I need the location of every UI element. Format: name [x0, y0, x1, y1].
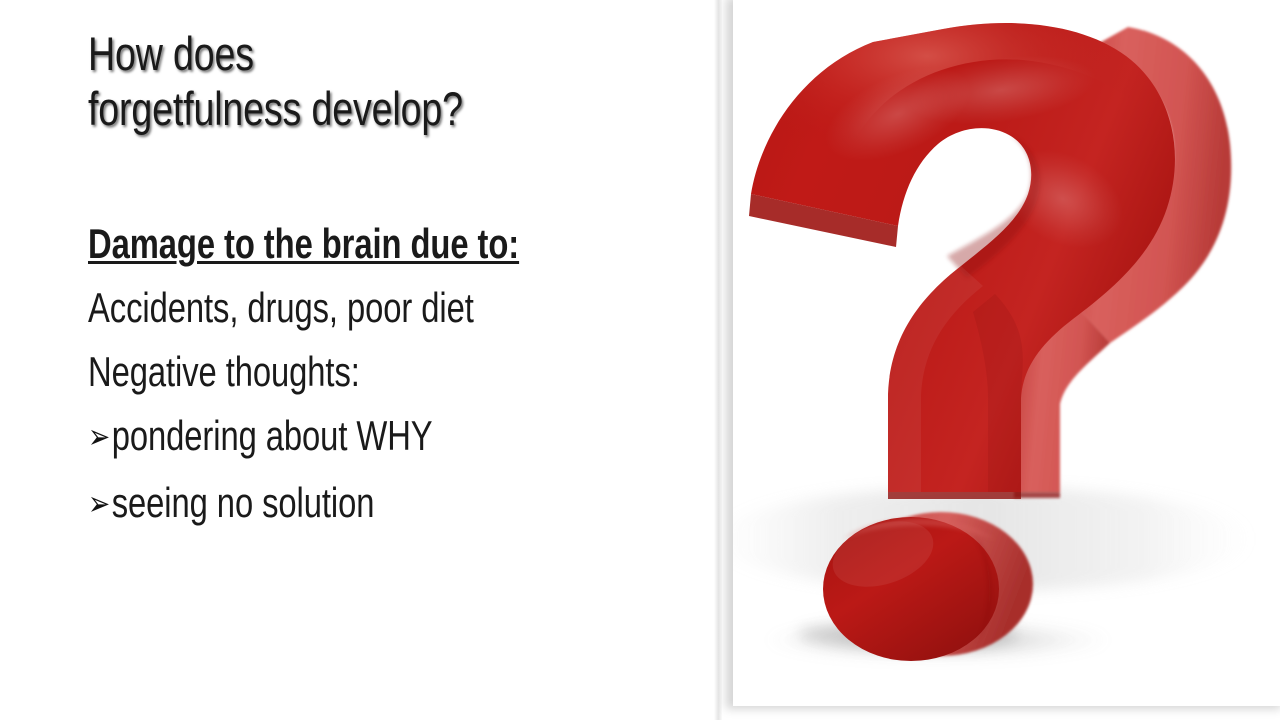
- body-line-heading: Damage to the brain due to:: [88, 212, 572, 276]
- question-mark-3d-icon: [733, 0, 1280, 706]
- list-item: ➢ pondering about WHY: [88, 404, 572, 471]
- arrow-bullet-icon: ➢: [88, 472, 110, 536]
- list-item: ➢ seeing no solution: [88, 471, 572, 538]
- body-line-causes: Accidents, drugs, poor diet: [88, 276, 572, 340]
- list-item-label: pondering about WHY: [112, 404, 433, 468]
- slide-canvas: How does forgetfulness develop? Damage t…: [0, 0, 1280, 720]
- image-panel: [733, 0, 1280, 706]
- panel-divider: [714, 0, 722, 720]
- arrow-bullet-icon: ➢: [88, 405, 110, 469]
- body-content: Damage to the brain due to: Accidents, d…: [88, 212, 708, 538]
- text-column: How does forgetfulness develop? Damage t…: [88, 0, 648, 720]
- page-title: How does forgetfulness develop?: [88, 26, 464, 136]
- body-line-negative-thoughts: Negative thoughts:: [88, 340, 572, 404]
- list-item-label: seeing no solution: [112, 471, 375, 535]
